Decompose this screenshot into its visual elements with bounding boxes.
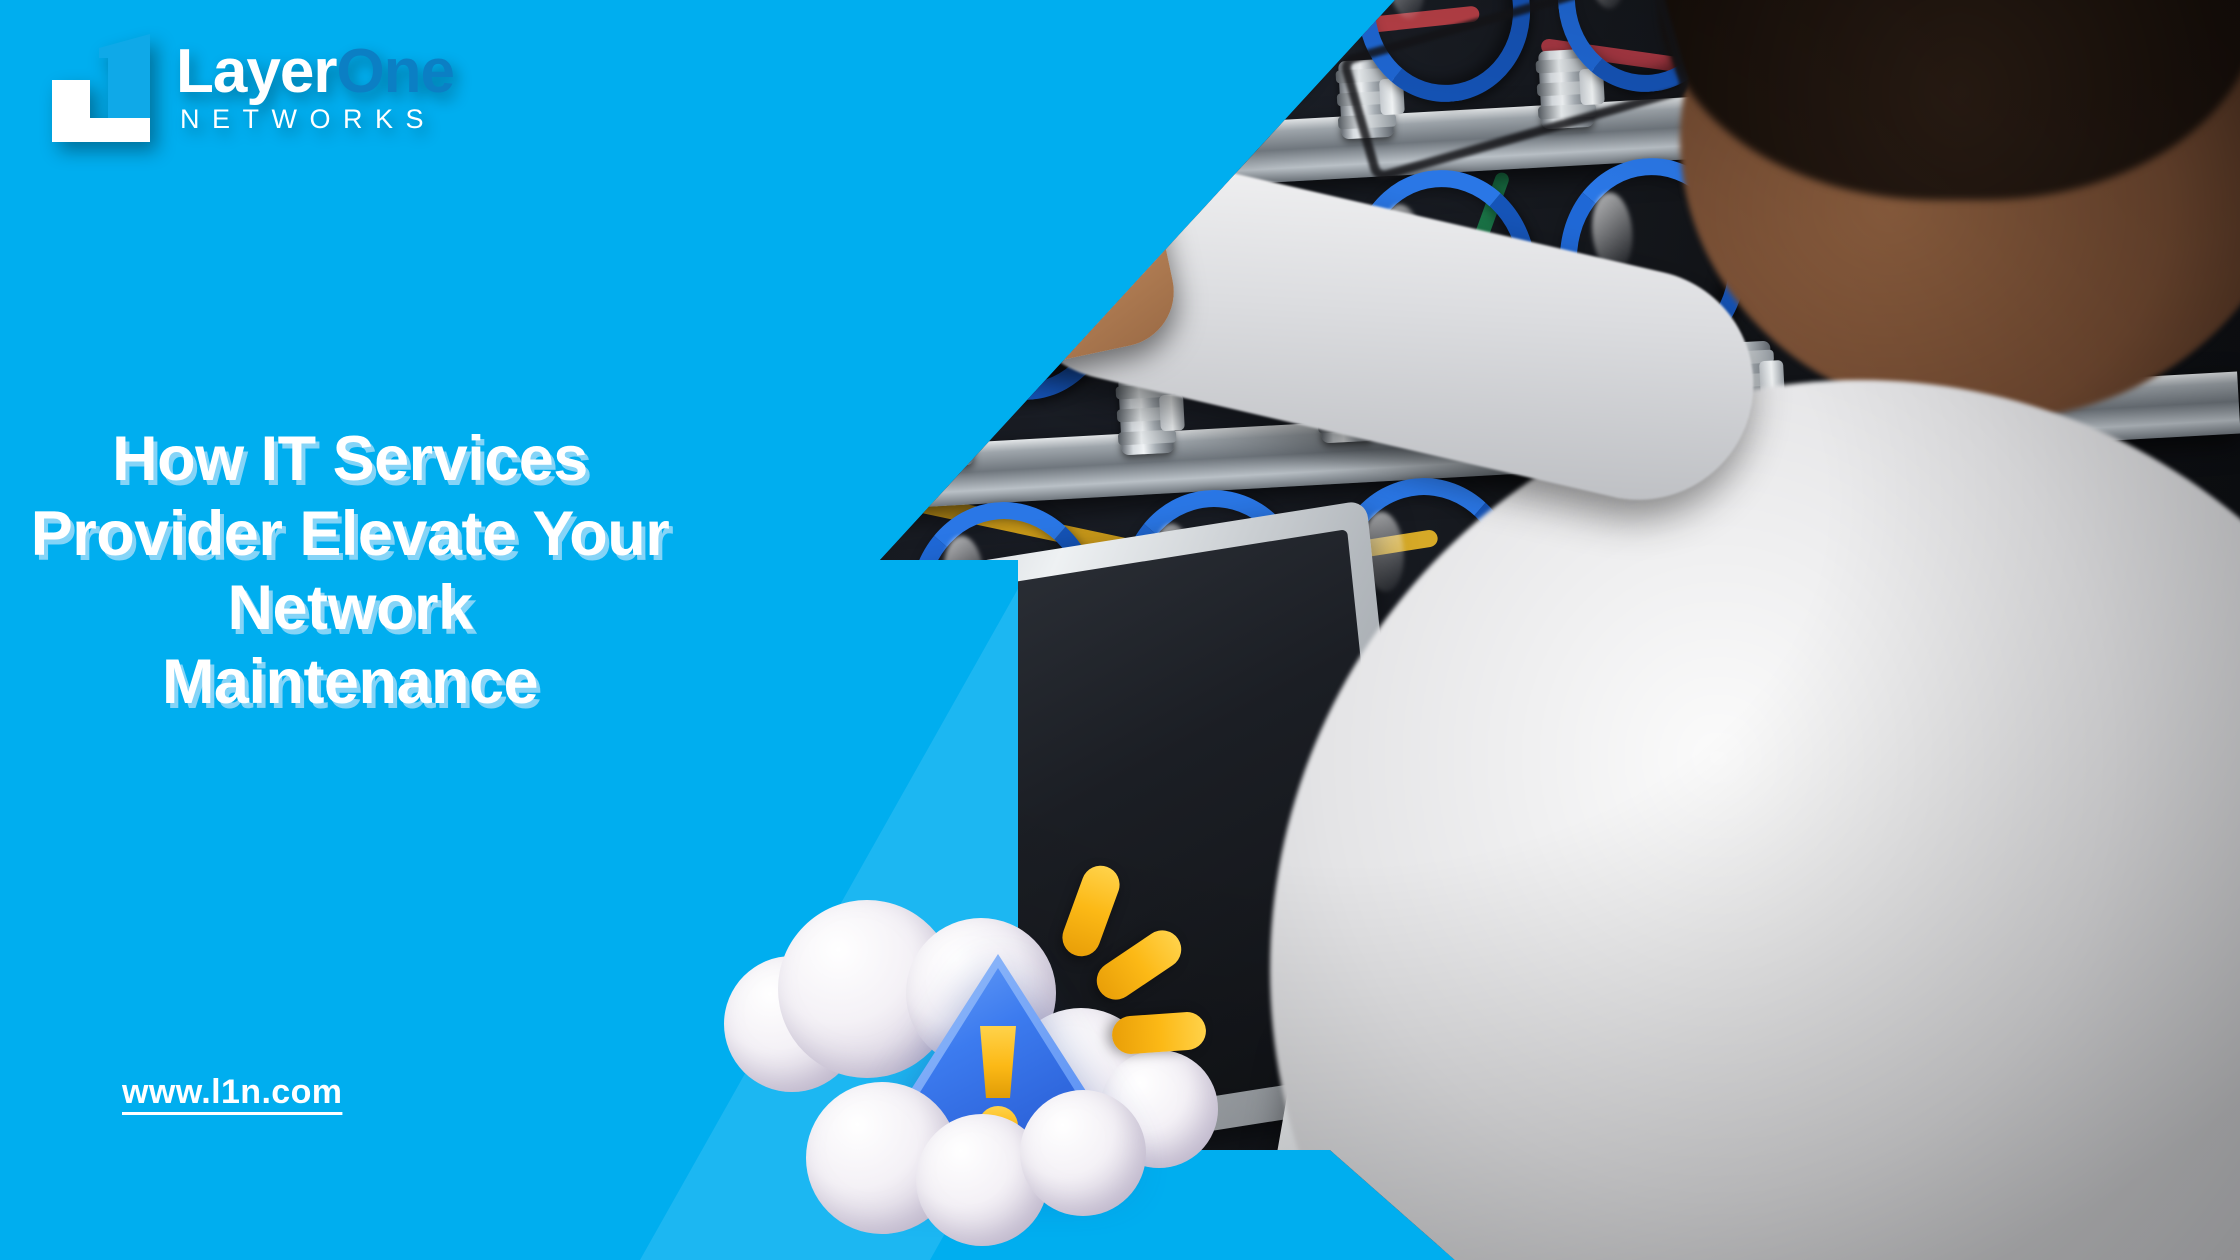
- cloud-alert-3d-illustration: [720, 860, 1220, 1260]
- brand-wordmark: LayerOne NETWORKS: [176, 41, 454, 135]
- website-url-link[interactable]: www.l1n.com: [122, 1073, 342, 1112]
- brand-logo[interactable]: LayerOne NETWORKS: [46, 34, 454, 142]
- page-title: How IT Services Provider Elevate Your Ne…: [0, 422, 700, 719]
- burst-rays-icon: [1089, 923, 1188, 1007]
- burst-rays-icon: [1111, 1011, 1207, 1055]
- brand-name: LayerOne: [176, 41, 454, 103]
- headline-line-4: Maintenance: [0, 645, 700, 719]
- brand-name-part2: One: [336, 37, 454, 106]
- headline-line-3: Network: [0, 571, 700, 645]
- headline-line-1: How IT Services: [0, 422, 700, 496]
- layerone-l-block-icon: [46, 34, 154, 142]
- burst-rays-icon: [1057, 860, 1125, 961]
- promo-banner: LayerOne NETWORKS How IT Services Provid…: [0, 0, 2240, 1260]
- brand-tagline: NETWORKS: [176, 105, 454, 135]
- brand-name-part1: Layer: [176, 37, 336, 106]
- cloud-icon: [1020, 1090, 1146, 1216]
- headline-line-2: Provider Elevate Your: [0, 497, 700, 571]
